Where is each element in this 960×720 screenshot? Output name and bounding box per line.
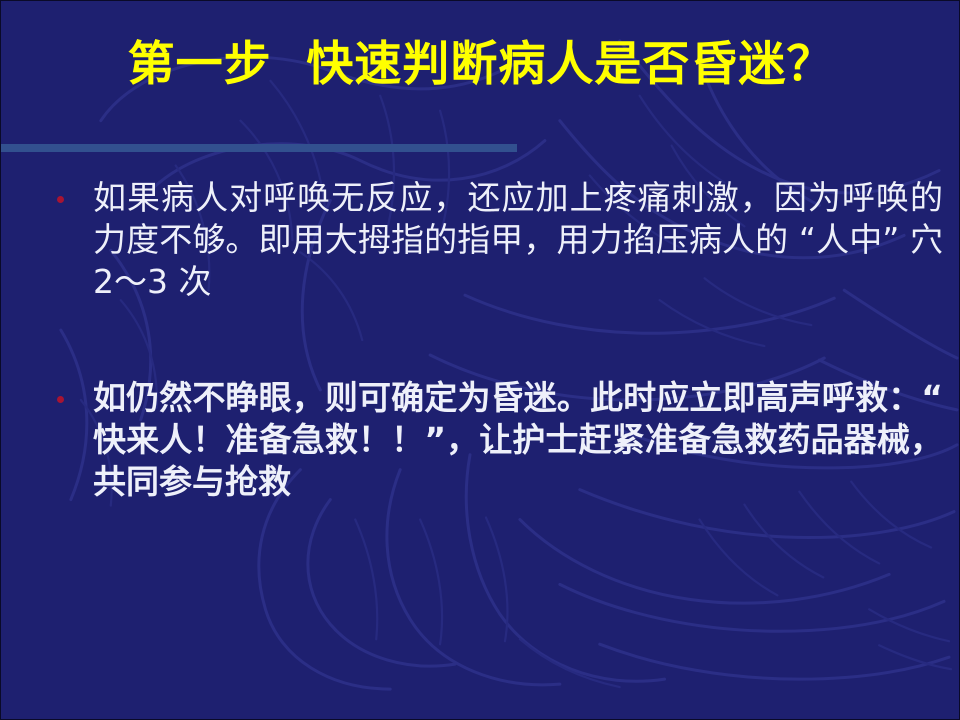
bullet-item-2-text: 如仍然不睁眼，则可确定为昏迷。此时应立即高声呼救：“ 快来人！准备急救！！”，让… <box>93 377 943 503</box>
bullet-item-1: 如果病人对呼唤无反应，还应加上疼痛刺激，因为呼唤的力度不够。即用大拇指的指甲，用… <box>1 177 960 303</box>
round-bullet-icon <box>57 396 64 403</box>
round-bullet-icon <box>57 196 64 203</box>
bullet-item-1-text: 如果病人对呼唤无反应，还应加上疼痛刺激，因为呼唤的力度不够。即用大拇指的指甲，用… <box>93 177 943 303</box>
slide-title: 第一步 快速判断病人是否昏迷？ <box>1 39 960 92</box>
title-divider-bar <box>1 144 517 152</box>
presentation-slide: 第一步 快速判断病人是否昏迷？ 如果病人对呼唤无反应，还应加上疼痛刺激，因为呼唤… <box>0 0 960 720</box>
slide-title-text: 第一步 快速判断病人是否昏迷？ <box>128 39 835 92</box>
slide-body: 如果病人对呼唤无反应，还应加上疼痛刺激，因为呼唤的力度不够。即用大拇指的指甲，用… <box>1 177 960 503</box>
bullet-item-2: 如仍然不睁眼，则可确定为昏迷。此时应立即高声呼救：“ 快来人！准备急救！！”，让… <box>1 377 960 503</box>
